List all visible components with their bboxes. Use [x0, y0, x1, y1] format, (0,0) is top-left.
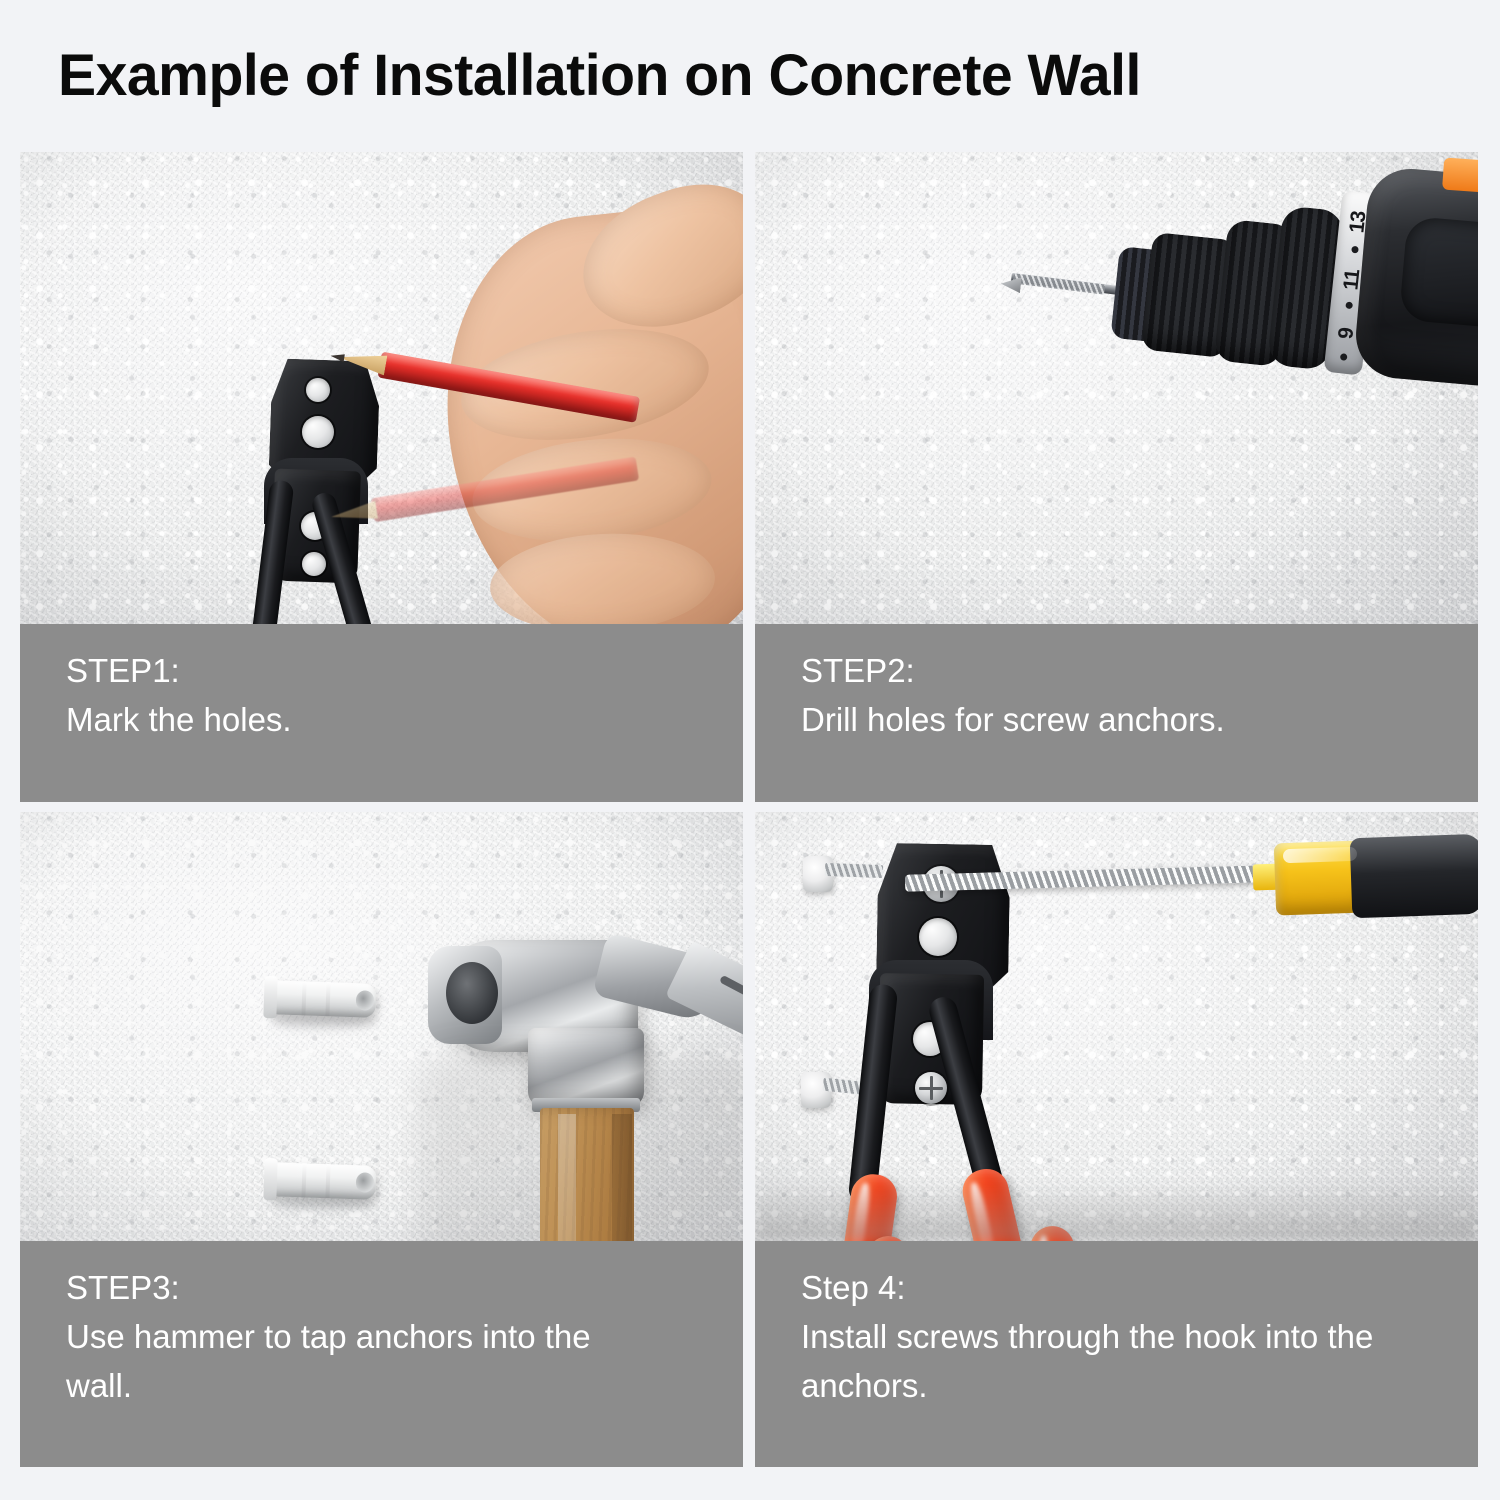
pencil-lead — [330, 352, 345, 362]
step-2-label: STEP2: — [801, 646, 1432, 695]
anchor-upper-bore — [356, 991, 375, 1011]
step-3-text: Use hammer to tap anchors into the wall. — [66, 1312, 697, 1410]
page-title: Example of Installation on Concrete Wall — [58, 34, 1437, 118]
anchor-upper-rib-1 — [301, 981, 306, 1015]
step-4-caption: Step 4: Install screws through the hook … — [755, 1241, 1478, 1467]
anchor-lower-bore — [356, 1173, 375, 1193]
step-card-3: STEP3: Use hammer to tap anchors into th… — [20, 812, 743, 1467]
screwdriver-handle-highlight — [1283, 847, 1357, 864]
step-4-text: Install screws through the hook into the… — [801, 1312, 1432, 1410]
torque-collar-dot-1 — [1351, 246, 1359, 254]
torque-collar-dot-3 — [1340, 353, 1348, 361]
step-3-label: STEP3: — [66, 1263, 697, 1312]
anchor-upper-rib-2 — [325, 982, 330, 1016]
anchor-upper-shadow — [272, 1014, 376, 1028]
step-1-photo — [20, 152, 743, 624]
anchor-lower-flange — [263, 1158, 277, 1200]
photo-bottom-blur — [755, 1181, 1478, 1241]
step-2-photo: 13 11 9 — [755, 152, 1478, 624]
torque-collar-dot-2 — [1345, 301, 1353, 309]
step-1-caption: STEP1: Mark the holes. — [20, 624, 743, 802]
pencil-wood-tip — [337, 347, 388, 375]
steps-grid: STEP1: Mark the holes. 13 — [20, 152, 1478, 1467]
mounting-hole-1 — [306, 378, 330, 402]
white-plastic-wall-anchor-upper — [267, 980, 376, 1018]
step-3-caption: STEP3: Use hammer to tap anchors into th… — [20, 1241, 743, 1467]
step-card-4: Step 4: Install screws through the hook … — [755, 812, 1478, 1467]
ghost-pencil-wood-tip — [330, 501, 378, 526]
step-4-photo — [755, 812, 1478, 1241]
white-plastic-wall-anchor-lower — [267, 1162, 376, 1200]
hammer-face-bevel — [446, 962, 498, 1024]
anchor-lower-rib-2 — [325, 1164, 330, 1198]
step-1-label: STEP1: — [66, 646, 697, 695]
step-card-2: 13 11 9 — [755, 152, 1478, 802]
anchor-lower-rib-1 — [301, 1163, 306, 1197]
step-3-photo — [20, 812, 743, 1241]
anchor-upper-flange — [263, 976, 277, 1018]
step-1-text: Mark the holes. — [66, 695, 697, 744]
installed-screw-head-lower — [915, 1072, 947, 1104]
installation-guide-page: Example of Installation on Concrete Wall — [0, 0, 1500, 1500]
drill-body-inset-panel — [1399, 216, 1478, 333]
step-card-1: STEP1: Mark the holes. — [20, 152, 743, 802]
screwdriver-handle-grip — [1350, 834, 1478, 919]
mounting-hole-2 — [302, 416, 334, 448]
step-4-label: Step 4: — [801, 1263, 1432, 1312]
mounting-hole-2 — [919, 918, 957, 956]
mounting-hole-4 — [302, 552, 326, 576]
anchor-lower-shadow — [272, 1196, 376, 1210]
step-2-caption: STEP2: Drill holes for screw anchors. — [755, 624, 1478, 802]
step-2-text: Drill holes for screw anchors. — [801, 695, 1432, 744]
hammer-shadow — [418, 1052, 743, 1241]
